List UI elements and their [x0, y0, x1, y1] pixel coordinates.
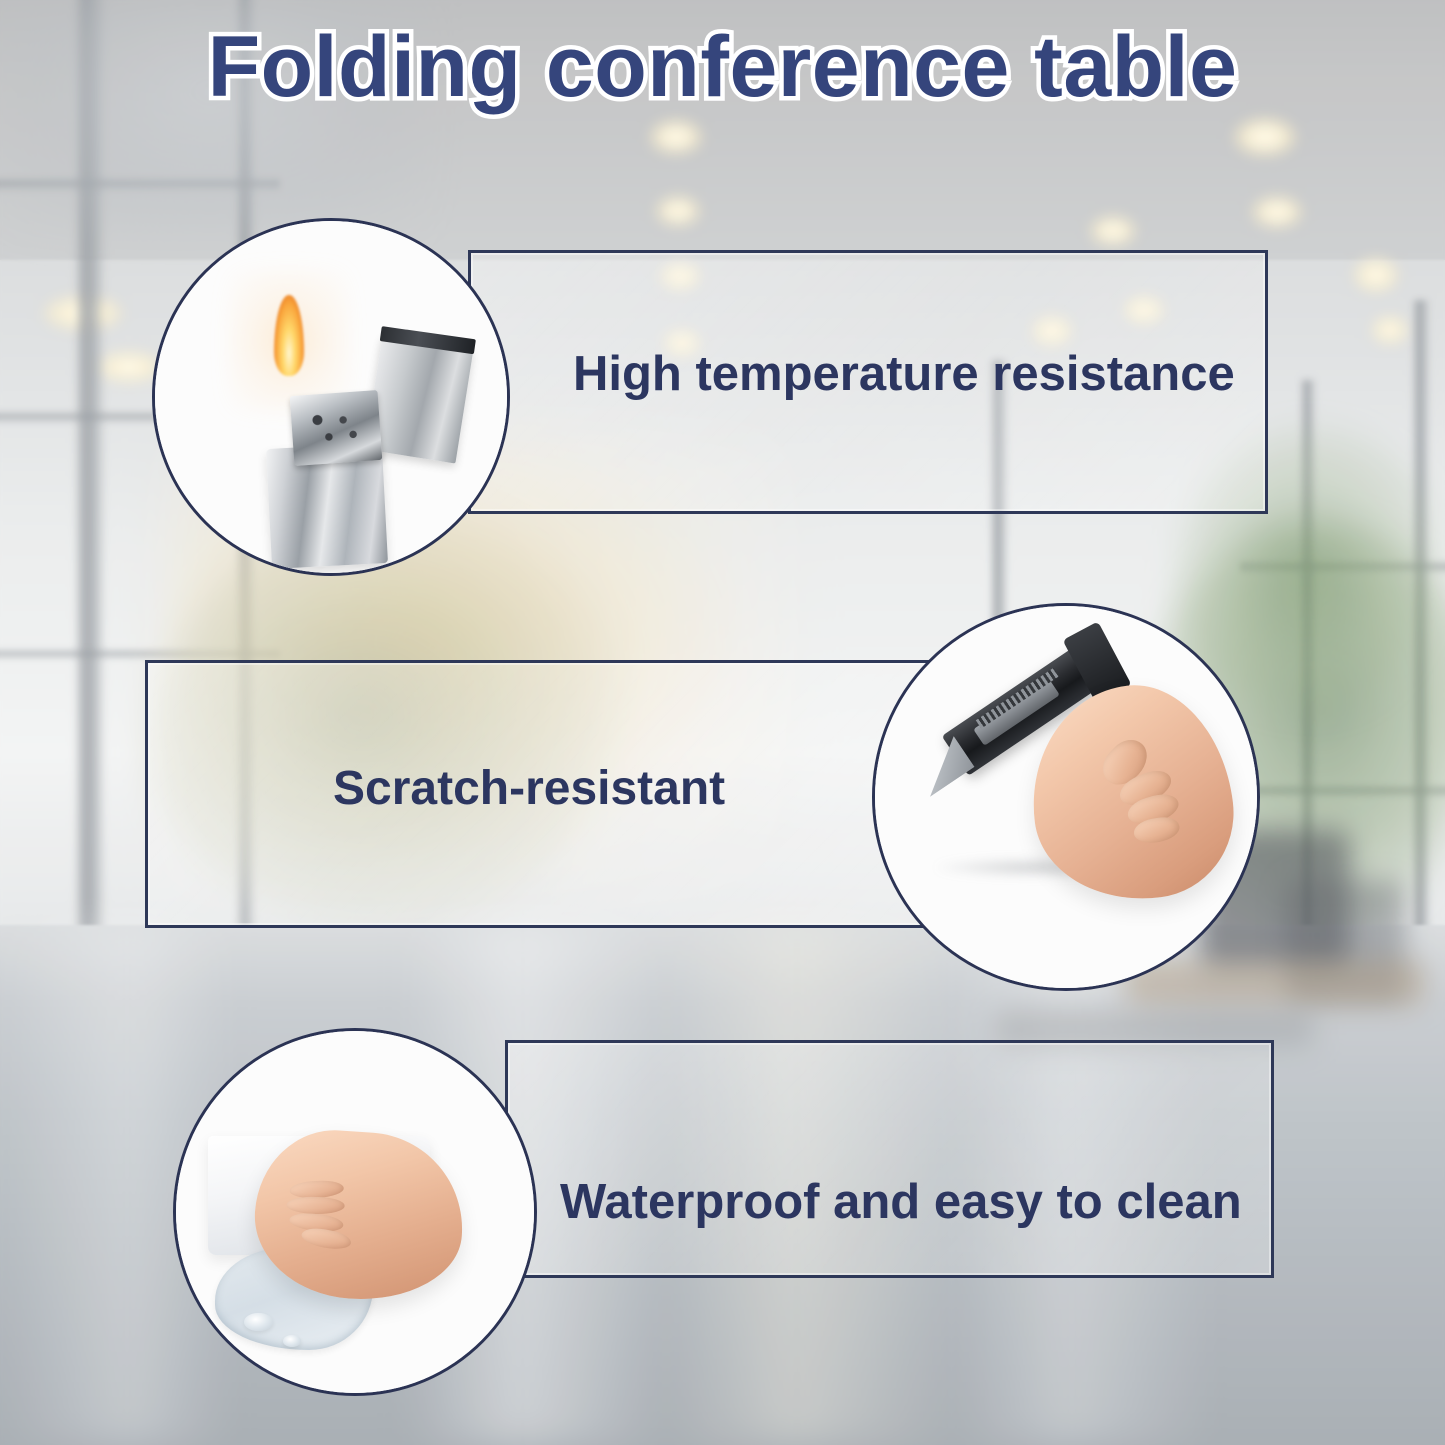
- feature-label-waterproof-easy-to-clean: Waterproof and easy to clean: [560, 1178, 1242, 1227]
- finger: [286, 1197, 344, 1215]
- feature-image-lighter-flame: [152, 218, 510, 576]
- feature-image-wiping-hand-water: [173, 1028, 537, 1396]
- lighter-insert: [290, 390, 383, 466]
- feature-label-scratch-resistant: Scratch-resistant: [333, 765, 725, 813]
- lighter-flame-photo: [155, 221, 507, 573]
- wiping-hand-water-photo: [176, 1031, 534, 1393]
- utility-knife-photo: [875, 606, 1257, 988]
- feature-label-high-temperature-resistance: High temperature resistance: [573, 350, 1235, 399]
- page-title: Folding conference table: [0, 24, 1445, 110]
- knife-blade: [909, 736, 974, 797]
- feature-image-utility-knife: [872, 603, 1260, 991]
- product-infographic-poster: Folding conference table: [0, 0, 1445, 1445]
- feature-box-waterproof-easy-to-clean: [505, 1040, 1274, 1278]
- finger: [300, 1226, 352, 1253]
- water-droplet: [283, 1335, 301, 1347]
